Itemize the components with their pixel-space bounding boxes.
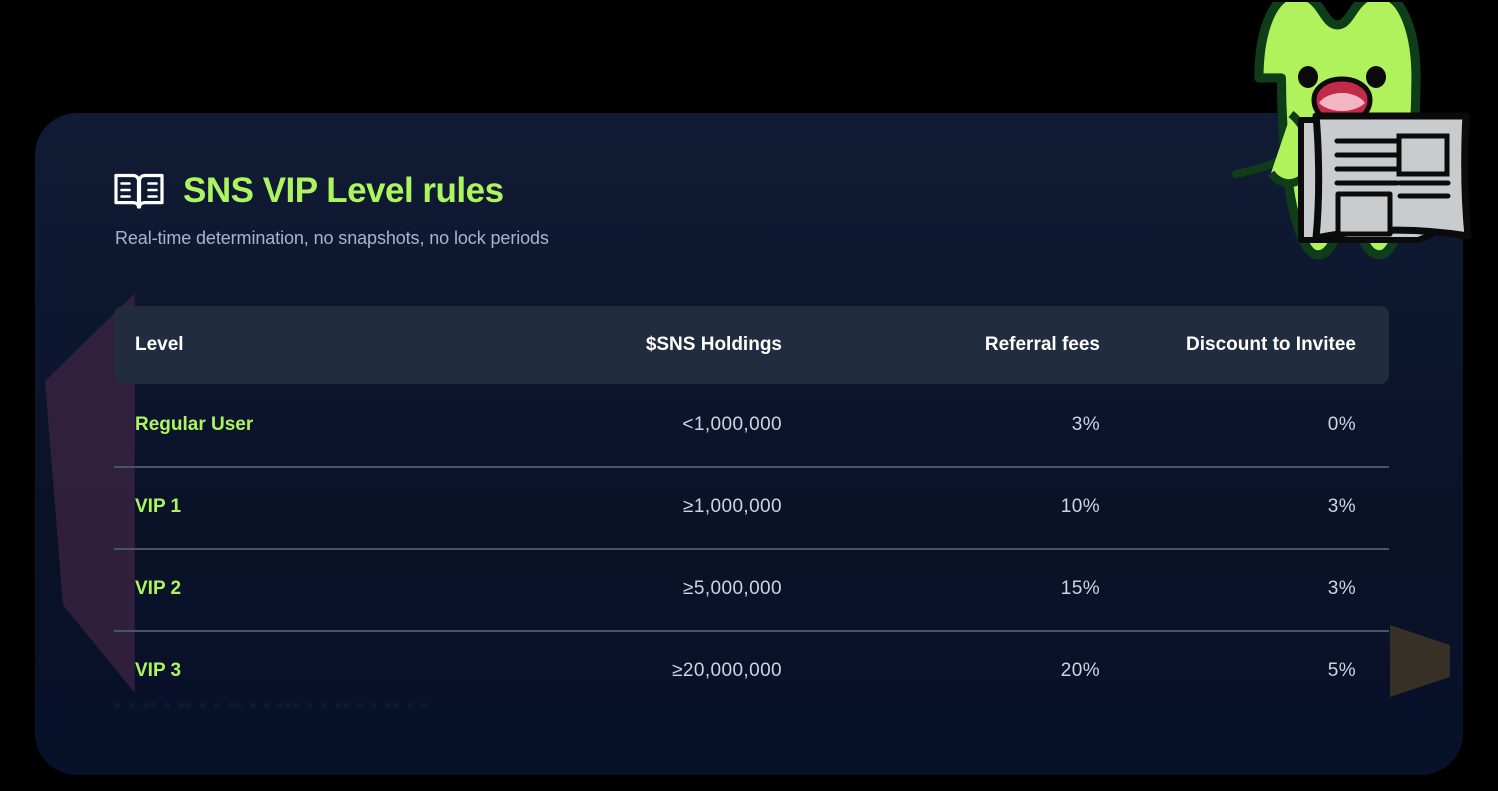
cell-referral: 3% [782,414,1100,436]
table-row: Regular User <1,000,000 3% 0% [114,384,1389,466]
cell-referral: 20% [782,660,1100,682]
open-book-icon [113,170,165,212]
cell-discount: 5% [1100,660,1373,682]
card-header: SNS VIP Level rules Real-time determinat… [113,170,549,249]
cell-discount: 3% [1100,578,1373,600]
cell-level: VIP 3 [114,660,534,682]
page-title: SNS VIP Level rules [183,171,504,211]
column-header-holdings: $SNS Holdings [534,334,782,356]
green-creature-reading-newspaper-icon [1196,2,1486,302]
cell-discount: 0% [1100,414,1373,436]
cell-discount: 3% [1100,496,1373,518]
page-subtitle: Real-time determination, no snapshots, n… [115,228,549,249]
column-header-referral: Referral fees [782,334,1100,356]
cell-referral: 15% [782,578,1100,600]
cell-level: Regular User [114,414,534,436]
cell-referral: 10% [782,496,1100,518]
screenshot-root: SNS VIP Level rules Real-time determinat… [0,0,1498,791]
table-header-row: Level $SNS Holdings Referral fees Discou… [114,306,1389,384]
cell-holdings: ≥1,000,000 [534,496,782,518]
table-row: VIP 1 ≥1,000,000 10% 3% [114,466,1389,548]
cell-holdings: <1,000,000 [534,414,782,436]
column-header-level: Level [114,334,534,356]
table-row: VIP 2 ≥5,000,000 15% 3% [114,548,1389,630]
decorative-shape-right [1390,625,1450,697]
cell-holdings: ≥20,000,000 [534,660,782,682]
faded-cutoff-text: ▪ ▪ ▪▪ ▪ ▪▪ ▪ ▪ ▪▪ ▪ ▪ ▪▪▪ ▪ ▪ ▪▪ ▪ ▪ ▪▪… [114,695,1294,723]
cell-level: VIP 1 [114,496,534,518]
cell-holdings: ≥5,000,000 [534,578,782,600]
vip-level-table: Level $SNS Holdings Referral fees Discou… [114,306,1389,712]
column-header-discount: Discount to Invitee [1100,334,1373,356]
cell-level: VIP 2 [114,578,534,600]
